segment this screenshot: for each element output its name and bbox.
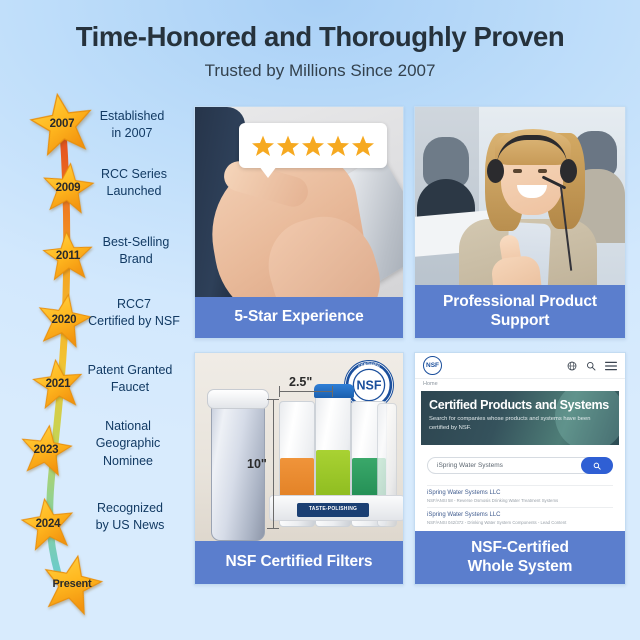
- card-label-line: NSF-Certified: [471, 539, 569, 557]
- star-icon: [301, 134, 325, 158]
- card-photo: [415, 107, 625, 287]
- timeline-label: Established in 2007: [78, 108, 186, 143]
- timeline-label-line: National: [72, 418, 184, 435]
- headset-earcup: [560, 159, 577, 183]
- search-result-item[interactable]: iSpring Water Systems LLC NSF/ANSI 58 - …: [427, 485, 613, 503]
- timeline-label: National Geographic Nominee: [72, 418, 184, 470]
- breadcrumb[interactable]: Home: [423, 381, 438, 387]
- timeline-label: Recognized by US News: [74, 500, 186, 535]
- card-label-line: Support: [491, 312, 550, 330]
- timeline-label-line: Launched: [82, 183, 186, 200]
- header: Time-Honored and Thoroughly Proven Trust…: [0, 22, 640, 81]
- dimension-tick: [279, 386, 280, 397]
- card-photo: NSF: [415, 353, 625, 533]
- timeline-label-line: Brand: [84, 251, 188, 268]
- timeline-label-line: in 2007: [78, 125, 186, 142]
- hero-title: Certified Products and Systems: [429, 398, 611, 412]
- timeline-label: Patent Granted Faucet: [72, 362, 188, 397]
- search-icon: [593, 462, 601, 470]
- page-title: Time-Honored and Thoroughly Proven: [0, 22, 640, 52]
- dimension-tick: [267, 528, 279, 529]
- star-icon: [351, 134, 375, 158]
- dimension-width-text: 2.5": [289, 375, 312, 389]
- timeline-label-line: Geographic: [72, 435, 184, 452]
- globe-icon[interactable]: [567, 361, 577, 371]
- timeline-label-line: RCC Series: [82, 166, 186, 183]
- result-title: iSpring Water Systems LLC: [427, 512, 613, 518]
- timeline-year: Present: [40, 552, 104, 616]
- timeline-label: RCC Series Launched: [82, 166, 186, 201]
- search-button[interactable]: [581, 457, 613, 474]
- page-subtitle: Trusted by Millions Since 2007: [0, 61, 640, 81]
- timeline-label: RCC7 Certified by NSF: [78, 296, 190, 331]
- milestone-timeline: 2007 Established in 2007 2009 RCC Series…: [0, 100, 190, 620]
- eye-shape: [513, 169, 522, 173]
- dimension-tick: [267, 399, 279, 400]
- card-label-line: Whole System: [468, 558, 573, 576]
- hero-subtitle: Search for companies whose products and …: [429, 415, 611, 432]
- dimension-line-height: [273, 399, 274, 529]
- card-label-line: Professional Product: [443, 293, 597, 311]
- result-title: iSpring Water Systems LLC: [427, 490, 613, 496]
- card-photo: [195, 107, 403, 299]
- card-label: NSF-Certified Whole System: [415, 531, 625, 584]
- timeline-label-line: Best-Selling: [84, 234, 188, 251]
- card-professional-product-support[interactable]: Professional Product Support: [414, 106, 626, 339]
- dimension-height-text: 10": [247, 457, 267, 471]
- topbar-icons: [567, 361, 617, 371]
- search-bar: iSpring Water Systems: [427, 457, 613, 474]
- hero-banner: Certified Products and Systems Search fo…: [421, 391, 619, 445]
- card-label: 5-Star Experience: [195, 297, 403, 338]
- filter-housing: [211, 401, 265, 541]
- eye-shape: [538, 169, 547, 173]
- timeline-label-line: Faucet: [72, 379, 188, 396]
- timeline-label-line: Nominee: [72, 453, 184, 470]
- card-nsf-certified-whole-system[interactable]: NSF: [414, 352, 626, 585]
- card-photo: NSF CERTIFIED CERTIFIED: [195, 353, 403, 543]
- timeline-year: 2024: [16, 492, 80, 556]
- timeline-label: Best-Selling Brand: [84, 234, 188, 269]
- hamburger-menu-icon[interactable]: [605, 361, 617, 371]
- card-nsf-certified-filters[interactable]: NSF CERTIFIED CERTIFIED: [194, 352, 404, 585]
- star-icon: [251, 134, 275, 158]
- card-five-star-experience[interactable]: 5-Star Experience: [194, 106, 404, 339]
- search-result-item[interactable]: iSpring Water Systems LLC NSF/ANSI 042/3…: [427, 507, 613, 525]
- timeline-label-line: Recognized: [74, 500, 186, 517]
- svg-text:NSF: NSF: [357, 379, 382, 393]
- timeline-label-line: Patent Granted: [72, 362, 188, 379]
- filter-plate-label: TASTE-POLISHING: [297, 503, 369, 517]
- timeline-label-line: Established: [78, 108, 186, 125]
- search-icon[interactable]: [586, 361, 596, 371]
- star-icon: [326, 134, 350, 158]
- card-label: NSF Certified Filters: [195, 541, 403, 584]
- bubble-tail: [259, 166, 277, 178]
- result-subtitle: NSF/ANSI 042/372 - Drinking Water System…: [427, 520, 613, 525]
- timeline-label-line: Certified by NSF: [78, 313, 190, 330]
- star-icon: [276, 134, 300, 158]
- dimension-line-width: [279, 391, 333, 392]
- headset-earcup: [487, 159, 504, 183]
- nsf-logo[interactable]: NSF: [423, 356, 442, 375]
- dimension-tick: [332, 386, 333, 397]
- timeline-year: 2023: [14, 418, 78, 482]
- card-label: Professional Product Support: [415, 285, 625, 338]
- timeline-label-line: by US News: [74, 517, 186, 534]
- result-subtitle: NSF/ANSI 58 - Reverse Osmosis Drinking W…: [427, 498, 613, 503]
- filter-housing-cap: [207, 389, 269, 409]
- rating-bubble: [239, 123, 387, 168]
- timeline-label-line: RCC7: [78, 296, 190, 313]
- infographic-page: Time-Honored and Thoroughly Proven Trust…: [0, 0, 640, 640]
- nsf-site-topbar: NSF: [415, 353, 625, 379]
